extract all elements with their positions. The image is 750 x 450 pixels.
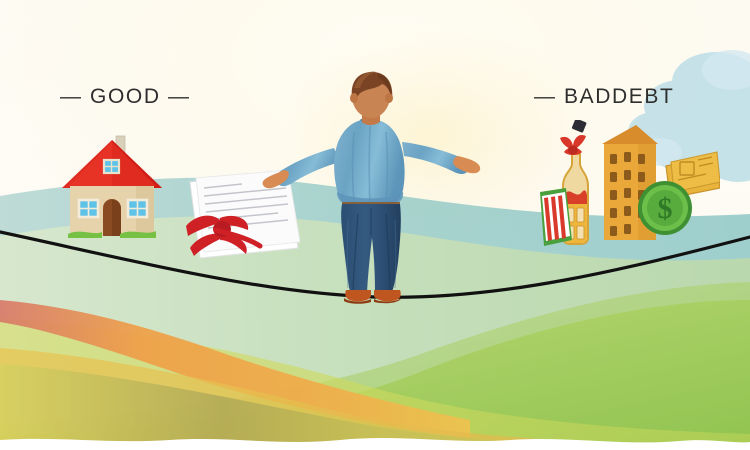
label-bad-debt: — BADDEBT [534, 85, 674, 109]
illustration-scene: $ [0, 0, 750, 450]
dollar-coin-icon: $ [638, 181, 692, 235]
person-balancing [262, 70, 482, 305]
svg-text:$: $ [658, 192, 673, 225]
label-good: — GOOD — [60, 85, 191, 109]
house-icon [62, 136, 162, 238]
bad-debt-illustration: $ [540, 120, 720, 250]
